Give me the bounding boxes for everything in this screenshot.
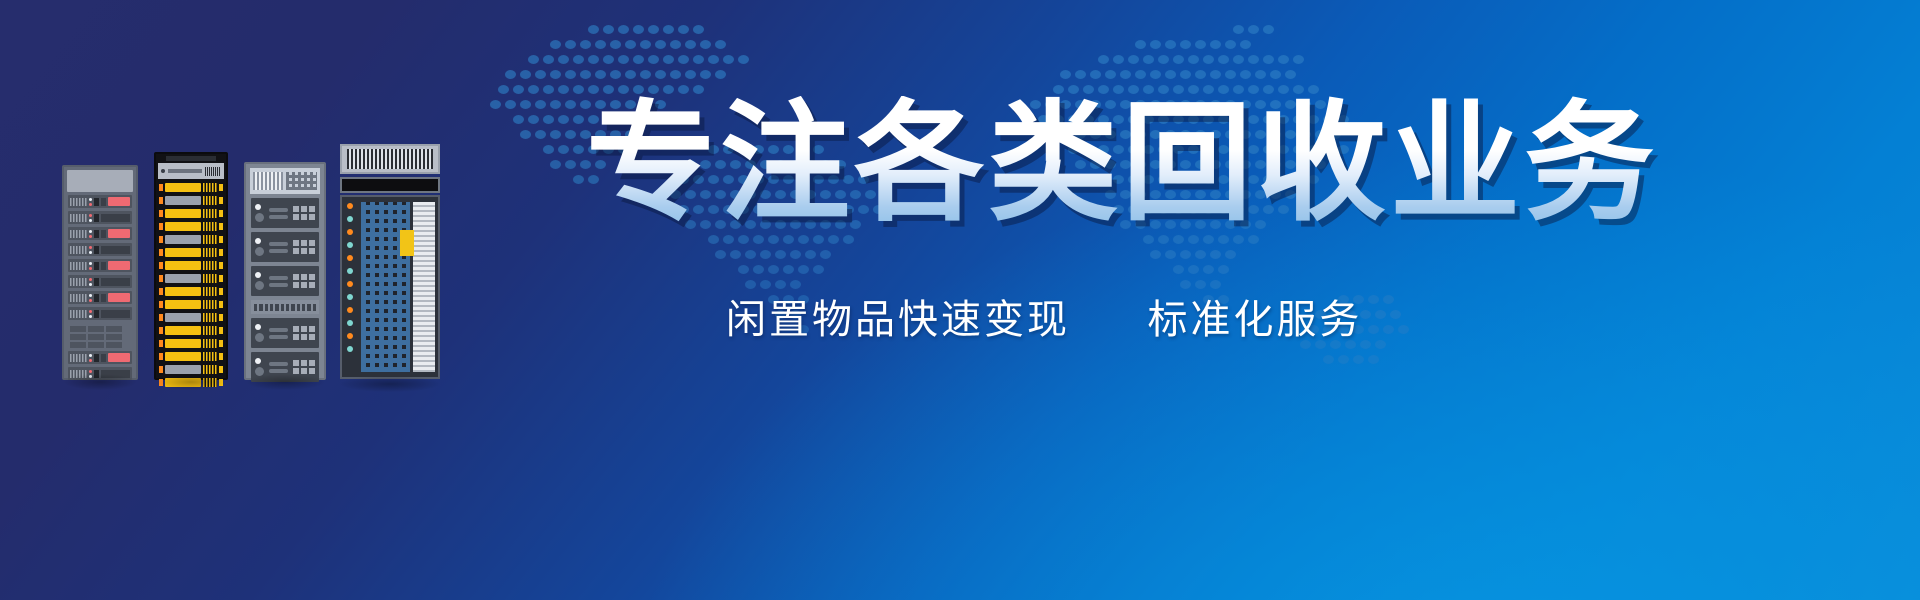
rack-top-rail [166, 156, 216, 161]
rack-top-cap [158, 163, 224, 179]
subtitle-part-1: 闲置物品快速变现 [726, 297, 1070, 343]
tower-vent-mesh [361, 202, 410, 372]
rack-ground-shadow [64, 374, 136, 390]
blade-unit [159, 208, 223, 219]
tower-top-unit [340, 144, 440, 174]
rack-unit [68, 195, 132, 208]
tower-display-slot [340, 177, 440, 193]
server-unit [251, 318, 319, 348]
server-unit [251, 198, 319, 228]
rack-control-panel [250, 168, 320, 194]
blade-unit [159, 260, 223, 271]
rack-unit [68, 307, 132, 320]
blade-unit [159, 273, 223, 284]
rack-body [156, 182, 226, 388]
blade-unit [159, 338, 223, 349]
blade-unit [159, 247, 223, 258]
rack-top-cap [67, 170, 133, 192]
blade-unit [159, 182, 223, 193]
blade-unit [159, 234, 223, 245]
rack-black-amber [154, 152, 228, 380]
server-unit [251, 232, 319, 262]
tower-case [340, 195, 440, 379]
rack-patch-panel [68, 323, 132, 351]
rack-unit [68, 291, 132, 304]
rack-unit [68, 351, 132, 364]
rack-unit [68, 275, 132, 288]
blade-unit [159, 299, 223, 310]
rack-tower [340, 144, 440, 380]
tower-amber-indicator [400, 230, 414, 256]
rack-grey-red [62, 165, 138, 380]
rack-bluegrey [244, 162, 326, 380]
rack-ground-shadow [246, 374, 324, 390]
promo-banner: 专注各类回收业务 闲置物品快速变现 标准化服务 [0, 0, 1920, 600]
rack-unit [68, 243, 132, 256]
rack-ground-shadow [340, 376, 440, 392]
rack-body [246, 198, 324, 382]
rack-body [64, 195, 136, 380]
blade-unit [159, 325, 223, 336]
rack-ground-shadow [156, 374, 226, 390]
banner-copy: 专注各类回收业务 闲置物品快速变现 标准化服务 [586, 96, 1886, 345]
tower-led-column [342, 197, 358, 377]
blade-unit [159, 286, 223, 297]
banner-subtitle: 闲置物品快速变现 标准化服务 [726, 287, 1886, 345]
server-racks-illustration [44, 140, 504, 380]
rack-unit [68, 227, 132, 240]
blade-unit [159, 312, 223, 323]
rack-unit [68, 211, 132, 224]
page-title: 专注各类回收业务 [586, 96, 1886, 231]
server-unit [251, 266, 319, 296]
tower-side-fins [413, 202, 435, 372]
rack-unit [68, 259, 132, 272]
blade-unit [159, 221, 223, 232]
blade-unit [159, 351, 223, 362]
rack-patch-panel [251, 300, 319, 314]
subtitle-part-2: 标准化服务 [1147, 297, 1362, 343]
blade-unit [159, 195, 223, 206]
